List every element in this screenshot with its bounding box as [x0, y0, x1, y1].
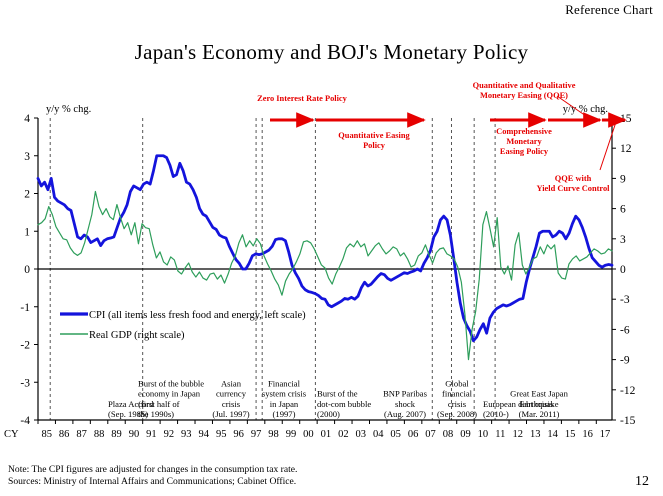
event-label-financial-system-crisis: system crisis — [262, 389, 307, 399]
event-label-great-east-japan-earthquake: Great East Japan — [510, 389, 568, 399]
x-tick-label-88: 88 — [94, 429, 105, 440]
event-label-financial-system-crisis: (1997) — [273, 409, 296, 419]
x-tick-label-12: 12 — [513, 429, 524, 440]
event-label-financial-system-crisis: in Japan — [270, 399, 299, 409]
event-label-dot-com-bubble-burst: dot-com bubble — [317, 399, 371, 409]
x-tick-label-17: 17 — [600, 429, 611, 440]
leader-line-ycc — [600, 122, 616, 170]
event-label-bnp-paribas-shock: (Aug. 2007) — [384, 409, 426, 419]
note-line: Note: The CPI figures are adjusted for c… — [8, 464, 297, 476]
policy-label-comprehensive-monetary-easing-policy: Easing Policy — [500, 147, 549, 156]
x-tick-label-92: 92 — [164, 429, 175, 440]
left-tick-label: -4 — [20, 415, 30, 427]
left-axis-unit-label: y/y % chg. — [46, 104, 91, 115]
policy-label-quantitative-easing-policy: Quantitative Easing — [338, 131, 410, 140]
left-tick-label: 0 — [24, 264, 30, 276]
legend-label-real-gdp: Real GDP (right scale) — [89, 330, 185, 341]
x-tick-label-07: 07 — [425, 429, 436, 440]
right-tick-label: 12 — [620, 143, 632, 155]
left-tick-label: -1 — [20, 302, 30, 314]
event-label-bubble-burst: (first half of — [138, 399, 180, 409]
x-tick-label-13: 13 — [530, 429, 541, 440]
event-label-dot-com-bubble-burst: (2000) — [317, 409, 340, 419]
event-label-bubble-burst: the 1990s) — [138, 409, 174, 419]
policy-label-comprehensive-monetary-easing-policy: Comprehensive — [496, 127, 552, 136]
right-axis-unit-label: y/y % chg. — [563, 104, 608, 115]
x-tick-label-15: 15 — [565, 429, 576, 440]
event-label-bubble-burst: Burst of the bubble — [138, 378, 204, 388]
chart-canvas: 43210-1-2-3-415129630-3-6-9-12-15y/y % c… — [0, 0, 663, 496]
event-label-asian-currency-crisis: Asian — [221, 378, 242, 388]
x-tick-label-87: 87 — [76, 429, 87, 440]
policy-label-qqe: Monetary Easing (QQE) — [480, 91, 568, 100]
x-tick-label-16: 16 — [582, 429, 593, 440]
x-tick-label-10: 10 — [478, 429, 489, 440]
x-tick-label-00: 00 — [303, 429, 314, 440]
left-tick-label: -3 — [20, 377, 30, 389]
right-tick-label: -3 — [620, 294, 630, 306]
right-tick-label: 3 — [620, 234, 626, 246]
left-tick-label: 3 — [24, 151, 30, 163]
right-tick-label: -6 — [620, 324, 630, 336]
right-tick-label: 6 — [620, 204, 626, 216]
x-tick-label-14: 14 — [547, 429, 558, 440]
left-tick-label: 2 — [24, 189, 30, 201]
x-tick-label-05: 05 — [390, 429, 401, 440]
event-label-global-financial-crisis: crisis — [448, 399, 467, 409]
x-axis-label: CY — [4, 429, 19, 440]
policy-label-qqe-yield-curve-control: QQE with — [555, 174, 592, 183]
left-tick-label: -2 — [20, 340, 30, 352]
event-label-great-east-japan-earthquake: (Mar. 2011) — [519, 409, 560, 419]
event-label-financial-system-crisis: Financial — [268, 378, 301, 388]
x-tick-label-93: 93 — [181, 429, 192, 440]
x-tick-label-89: 89 — [111, 429, 122, 440]
event-label-dot-com-bubble-burst: Burst of the — [317, 389, 358, 399]
footnotes: Note: The CPI figures are adjusted for c… — [8, 464, 297, 488]
left-tick-label: 4 — [24, 113, 30, 125]
x-tick-label-04: 04 — [373, 429, 384, 440]
policy-label-qqe: Quantitative and Qualitative — [473, 81, 576, 90]
x-tick-label-02: 02 — [338, 429, 349, 440]
event-label-european-debt-crisis: (2010-) — [483, 409, 509, 419]
event-label-bubble-burst: economy in Japan — [138, 389, 201, 399]
right-tick-label: -12 — [620, 385, 636, 397]
x-tick-label-86: 86 — [59, 429, 70, 440]
policy-label-zero-interest-rate-policy: Zero Interest Rate Policy — [257, 94, 348, 103]
policy-label-comprehensive-monetary-easing-policy: Monetary — [506, 137, 542, 146]
x-tick-label-90: 90 — [129, 429, 140, 440]
x-tick-label-85: 85 — [41, 429, 52, 440]
x-tick-label-99: 99 — [286, 429, 297, 440]
right-tick-label: -9 — [620, 355, 630, 367]
event-label-asian-currency-crisis: (Jul. 1997) — [212, 409, 249, 419]
right-tick-label: 0 — [620, 264, 626, 276]
left-tick-label: 1 — [24, 226, 30, 238]
x-tick-label-08: 08 — [443, 429, 454, 440]
event-label-great-east-japan-earthquake: Earthquake — [519, 399, 558, 409]
sources-line: Sources: Ministry of Internal Affairs an… — [8, 476, 297, 488]
event-label-global-financial-crisis: (Sep. 2008) — [437, 409, 477, 419]
x-tick-label-96: 96 — [233, 429, 244, 440]
x-tick-label-91: 91 — [146, 429, 157, 440]
x-tick-label-03: 03 — [356, 429, 367, 440]
event-label-bnp-paribas-shock: BNP Paribas — [383, 389, 428, 399]
event-label-global-financial-crisis: financial — [442, 389, 473, 399]
x-tick-label-95: 95 — [216, 429, 227, 440]
right-tick-label: 9 — [620, 173, 626, 185]
x-tick-label-94: 94 — [198, 429, 209, 440]
x-tick-label-01: 01 — [321, 429, 332, 440]
right-tick-label: -15 — [620, 415, 636, 427]
x-tick-label-06: 06 — [408, 429, 419, 440]
event-label-asian-currency-crisis: crisis — [222, 399, 241, 409]
economy-policy-line-chart: 43210-1-2-3-415129630-3-6-9-12-15y/y % c… — [0, 0, 663, 496]
legend-label-cpi: CPI (all items less fresh food and energ… — [89, 310, 306, 321]
x-tick-label-11: 11 — [495, 429, 505, 440]
policy-label-quantitative-easing-policy: Policy — [363, 141, 386, 150]
event-label-bnp-paribas-shock: shock — [395, 399, 416, 409]
event-label-asian-currency-crisis: currency — [216, 389, 247, 399]
policy-label-qqe-yield-curve-control: Yield Curve Control — [536, 184, 610, 193]
event-label-global-financial-crisis: Global — [445, 378, 469, 388]
x-tick-label-97: 97 — [251, 429, 262, 440]
x-tick-label-09: 09 — [460, 429, 471, 440]
page-number: 12 — [635, 474, 649, 490]
x-tick-label-98: 98 — [268, 429, 279, 440]
